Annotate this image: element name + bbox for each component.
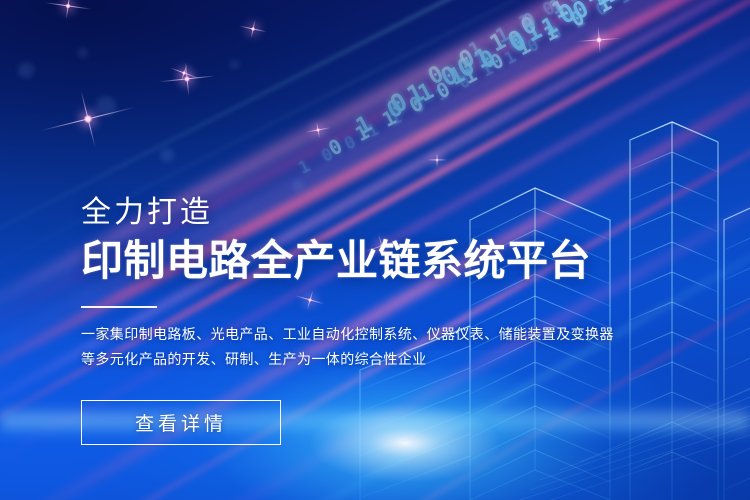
hero-banner: 1 0 0 1 1 0 1 0 1 1 0 0 1 0 1 1 0 1 0 0 … (0, 0, 750, 500)
hero-content: 全力打造 印制电路全产业链系统平台 一家集印制电路板、光电产品、工业自动化控制系… (81, 196, 591, 445)
view-details-button[interactable]: 查看详情 (81, 400, 281, 445)
hero-eyebrow: 全力打造 (81, 196, 591, 230)
hero-description: 一家集印制电路板、光电产品、工业自动化控制系统、仪器仪表、储能装置及变换器 等多… (81, 322, 567, 372)
hero-description-line-2: 等多元化产品的开发、研制、生产为一体的综合性企业 (81, 347, 567, 372)
divider-rule (81, 306, 157, 308)
hero-description-line-1: 一家集印制电路板、光电产品、工业自动化控制系统、仪器仪表、储能装置及变换器 (81, 322, 567, 347)
hero-headline: 印制电路全产业链系统平台 (81, 237, 591, 284)
